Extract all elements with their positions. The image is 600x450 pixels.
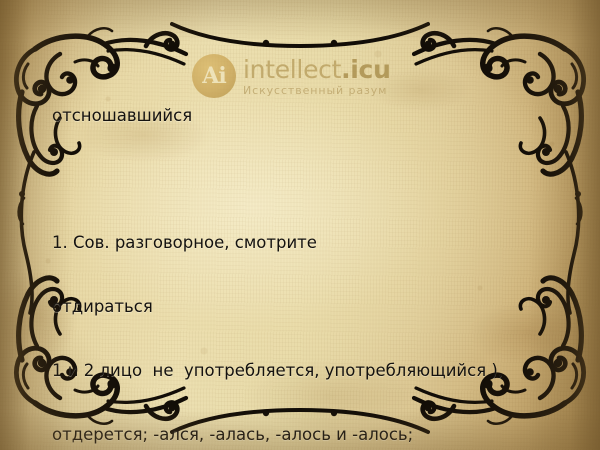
parchment-vignette [0,0,600,450]
dictionary-entry-image: Ai intellect.icu Искусственный разум отс… [0,0,600,450]
